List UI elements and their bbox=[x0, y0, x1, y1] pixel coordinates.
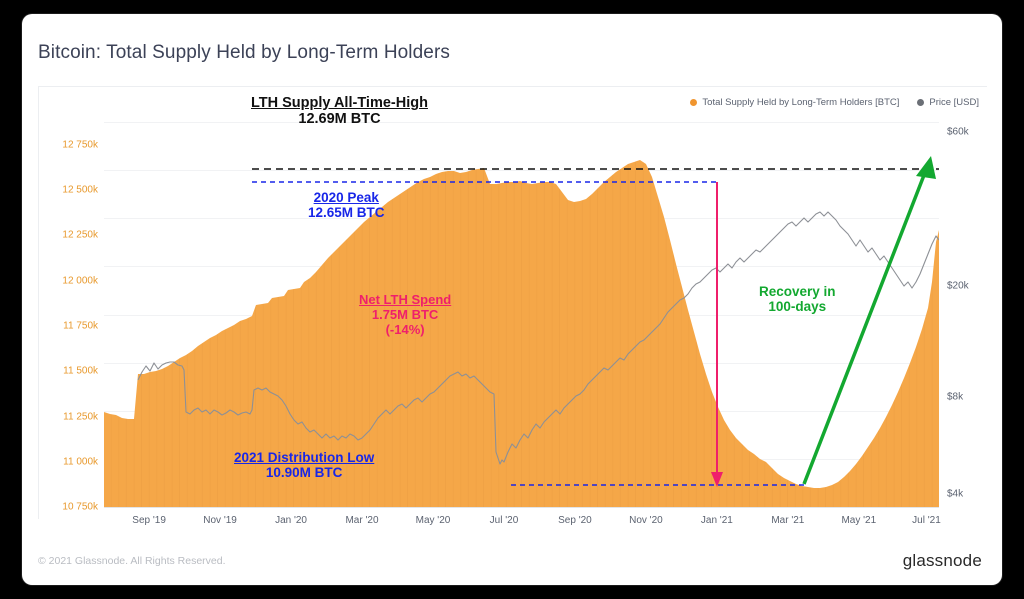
legend-dot-price-icon bbox=[917, 99, 924, 106]
x-tick-label: Jan '20 bbox=[275, 515, 307, 526]
y-right-tick-label: $4k bbox=[947, 488, 963, 499]
legend-label-price: Price [USD] bbox=[929, 97, 979, 108]
y-right-tick-label: $8k bbox=[947, 392, 963, 403]
legend-item-price[interactable]: Price [USD] bbox=[917, 97, 979, 108]
y-left-tick-label: 11 750k bbox=[63, 320, 98, 331]
chart-legend: Total Supply Held by Long-Term Holders [… bbox=[690, 97, 979, 108]
x-tick-label: Jul '20 bbox=[490, 515, 519, 526]
x-tick-label: Sep '20 bbox=[558, 515, 592, 526]
x-tick-label: May '20 bbox=[416, 515, 451, 526]
y-left-tick-label: 11 500k bbox=[63, 366, 98, 377]
y-left-tick-label: 11 250k bbox=[63, 411, 98, 422]
plot-area: glassnode 12 750k 12 500k 12 250k 12 000… bbox=[104, 122, 939, 507]
chart-container: Total Supply Held by Long-Term Holders [… bbox=[38, 86, 987, 519]
legend-label-supply: Total Supply Held by Long-Term Holders [… bbox=[702, 97, 899, 108]
x-tick-label: Nov '19 bbox=[203, 515, 237, 526]
y-left-tick-label: 12 250k bbox=[62, 230, 98, 241]
chart-card: Bitcoin: Total Supply Held by Long-Term … bbox=[22, 14, 1002, 585]
x-tick-label: Mar '20 bbox=[345, 515, 378, 526]
recovery-arrow-shaft bbox=[804, 170, 926, 484]
legend-dot-supply-icon bbox=[690, 99, 697, 106]
y-left-tick-label: 12 750k bbox=[62, 139, 98, 150]
annotation-ath-line1: LTH Supply All-Time-High bbox=[251, 95, 428, 111]
x-tick-label: Mar '21 bbox=[771, 515, 804, 526]
x-axis-line bbox=[104, 507, 939, 508]
x-tick-label: Nov '20 bbox=[629, 515, 663, 526]
y-left-tick-label: 11 000k bbox=[63, 456, 98, 467]
annotation-overlay bbox=[104, 122, 939, 507]
y-left-tick-label: 10 750k bbox=[62, 502, 98, 513]
legend-item-supply[interactable]: Total Supply Held by Long-Term Holders [… bbox=[690, 97, 899, 108]
x-tick-label: Sep '19 bbox=[132, 515, 166, 526]
y-right-tick-label: $20k bbox=[947, 280, 969, 291]
brand-wordmark: glassnode bbox=[903, 551, 982, 571]
y-right-tick-label: $60k bbox=[947, 126, 969, 137]
x-tick-label: Jul '21 bbox=[912, 515, 941, 526]
page-title: Bitcoin: Total Supply Held by Long-Term … bbox=[38, 42, 450, 64]
recovery-arrow-head bbox=[916, 156, 936, 179]
footer-copyright: © 2021 Glassnode. All Rights Reserved. bbox=[38, 555, 226, 567]
x-tick-label: May '21 bbox=[841, 515, 876, 526]
y-left-tick-label: 12 000k bbox=[62, 275, 98, 286]
screen-background: Bitcoin: Total Supply Held by Long-Term … bbox=[0, 0, 1024, 599]
x-tick-label: Jan '21 bbox=[701, 515, 733, 526]
y-left-tick-label: 12 500k bbox=[62, 184, 98, 195]
